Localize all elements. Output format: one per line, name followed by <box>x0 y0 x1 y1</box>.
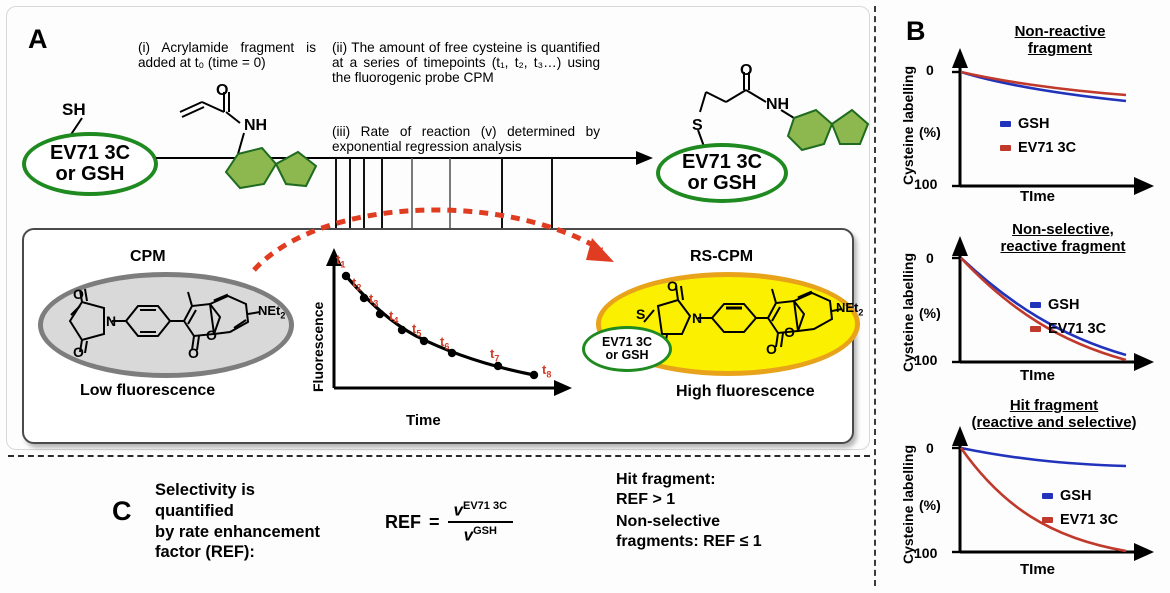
cpm-caption: Low fluorescence <box>80 382 215 400</box>
cpm-o-carbonyl-label: O <box>188 345 199 361</box>
rscpm-o-top-label: O <box>667 278 678 294</box>
chart-1-title-line1: Non-reactive <box>962 24 1158 41</box>
chart-3-legend-gsh-label: GSH <box>1060 488 1091 504</box>
chart-1-legend-gsh: GSH <box>1000 116 1049 132</box>
chart-1-ylabel: Cysteine labelling <box>900 66 916 185</box>
cpm-o-lactone-label: O <box>206 327 217 343</box>
product-protein-line1: EV71 3C <box>682 151 762 173</box>
decay-plot-xlabel: Time <box>406 412 441 429</box>
chart-1-legend-ev71-swatch <box>1000 145 1011 151</box>
non-selective-note-line2: fragments: REF ≤ 1 <box>616 532 762 552</box>
rscpm-o-carbonyl-label: O <box>766 341 777 357</box>
ref-numerator-var: v <box>454 500 463 519</box>
chart-3-yunit: (%) <box>919 497 941 513</box>
chart-3-ytick-top: 0 <box>926 440 934 456</box>
chart-3-legend-ev71-swatch <box>1042 517 1053 523</box>
chart-2-legend-gsh-label: GSH <box>1048 297 1079 313</box>
chart-2-legend-ev71-label: EV71 3C <box>1048 321 1106 337</box>
ref-numerator-sup: EV71 3C <box>463 500 507 512</box>
chart-3-legend-gsh: GSH <box>1042 488 1091 504</box>
ref-denominator-sup: GSH <box>473 525 497 537</box>
step-ii-text: (ii) The amount of free cysteine is quan… <box>332 40 600 85</box>
rscpm-title: RS-CPM <box>690 248 753 266</box>
chart-1-legend-gsh-swatch <box>1000 121 1011 127</box>
decay-timepoint-label-t6: t6 <box>440 334 449 352</box>
panel-b-letter: B <box>906 16 926 47</box>
cpm-o-bottom-label: O <box>73 344 84 360</box>
ref-denominator: vGSH <box>448 523 514 545</box>
decay-timepoint-label-t3: t3 <box>369 291 378 309</box>
vertical-divider <box>874 6 876 586</box>
decay-timepoint-label-t8: t8 <box>542 362 551 380</box>
cpm-title: CPM <box>130 248 166 266</box>
panel-c-desc-line1: Selectivity is quantified <box>155 480 335 522</box>
non-selective-note: Non-selective fragments: REF ≤ 1 <box>616 512 762 552</box>
chart-3-ytick-bottom: 100 <box>914 545 937 561</box>
chart-1-ytick-bottom: 100 <box>914 176 937 192</box>
chart-1-legend-gsh-label: GSH <box>1018 116 1049 132</box>
panel-c-desc-line2: by rate enhancement <box>155 522 335 543</box>
chart-2-xlabel: TIme <box>1020 367 1055 384</box>
chart-1-legend-ev71-label: EV71 3C <box>1018 140 1076 156</box>
chart-1-plot <box>940 44 1160 196</box>
ref-equation-lhs: REF <box>385 512 421 533</box>
cpm-molecule-structure <box>58 284 270 358</box>
decay-timepoint-label-t2: t2 <box>352 275 361 293</box>
chart-1-yunit: (%) <box>919 124 941 140</box>
product-carbonyl-o-label: O <box>740 62 752 80</box>
product-protein-ellipse: EV71 3C or GSH <box>656 143 788 203</box>
chart-2-legend-gsh-swatch <box>1030 302 1041 308</box>
rscpm-net2-label: NEt2 <box>836 300 863 318</box>
chart-3-legend-ev71-label: EV71 3C <box>1060 512 1118 528</box>
ref-equation: REF = vEV71 3C vGSH <box>385 500 513 546</box>
cpm-n-label: N <box>106 313 116 329</box>
panel-c-desc-line3: factor (REF): <box>155 542 335 563</box>
product-protein-line2: or GSH <box>688 172 757 194</box>
panel-a-letter: A <box>28 24 48 55</box>
rscpm-o-lactone-label: O <box>784 324 795 340</box>
decay-timepoint-label-t4: t4 <box>389 308 398 326</box>
chart-3-xlabel: TIme <box>1020 561 1055 578</box>
chart-3-legend-gsh-swatch <box>1042 493 1053 499</box>
rscpm-s-label: S <box>636 306 645 322</box>
chart-2-legend-gsh: GSH <box>1030 297 1079 313</box>
fragment-carbonyl-o-label: O <box>216 82 228 100</box>
chart-2-legend-ev71-swatch <box>1030 326 1041 332</box>
decay-plot-axes-and-curve <box>320 248 578 396</box>
chart-3-legend-ev71: EV71 3C <box>1042 512 1118 528</box>
cpm-net2-sub: 2 <box>280 311 285 321</box>
reactant-protein-line1: EV71 3C <box>50 142 130 164</box>
ref-numerator: vEV71 3C <box>448 500 514 523</box>
hit-fragment-note-line2: REF > 1 <box>616 490 716 510</box>
chart-1-legend-ev71: EV71 3C <box>1000 140 1076 156</box>
fragment-amide-nh-label: NH <box>244 117 267 135</box>
hit-fragment-note: Hit fragment: REF > 1 <box>616 470 716 510</box>
chart-2-ytick-bottom: 100 <box>914 352 937 368</box>
non-selective-note-line1: Non-selective <box>616 512 762 532</box>
ref-denominator-var: v <box>464 526 473 545</box>
panel-c-letter: C <box>112 496 132 527</box>
panel-c-description: Selectivity is quantified by rate enhanc… <box>155 480 335 563</box>
figure-root: A (i) Acrylamide fragment is added at t₀… <box>0 0 1170 593</box>
product-sulfur-label: S <box>692 117 703 135</box>
chart-3-title-line1: Hit fragment <box>938 398 1170 415</box>
rscpm-protein-line2: or GSH <box>605 348 648 362</box>
step-i-text: (i) Acrylamide fragment is added at t₀ (… <box>138 40 316 70</box>
chart-2-legend-ev71: EV71 3C <box>1030 321 1106 337</box>
rscpm-protein-ellipse: EV71 3C or GSH <box>582 326 672 372</box>
decay-timepoint-label-t5: t5 <box>412 321 421 339</box>
chart-1-xlabel: TIme <box>1020 188 1055 205</box>
chart-2-yunit: (%) <box>919 305 941 321</box>
horizontal-divider <box>8 455 870 457</box>
decay-timepoint-label-t1: t1 <box>336 252 345 270</box>
chart-2-ytick-top: 0 <box>926 250 934 266</box>
chart-1-ytick-top: 0 <box>926 62 934 78</box>
cpm-o-top-label: O <box>73 286 84 302</box>
ref-equation-fraction: vEV71 3C vGSH <box>448 500 514 546</box>
decay-timepoint-label-t7: t7 <box>490 346 499 364</box>
rscpm-caption: High fluorescence <box>676 383 815 401</box>
rscpm-n-label: N <box>692 310 702 326</box>
rscpm-protein-line1: EV71 3C <box>602 335 652 349</box>
cpm-net2-label: NEt2 <box>258 303 285 321</box>
reactant-protein-line2: or GSH <box>56 163 125 185</box>
reactant-protein-ellipse: EV71 3C or GSH <box>22 132 158 196</box>
ref-equation-equals: = <box>429 512 440 533</box>
product-amide-nh-label: NH <box>766 96 789 114</box>
hit-fragment-note-line1: Hit fragment: <box>616 470 716 490</box>
